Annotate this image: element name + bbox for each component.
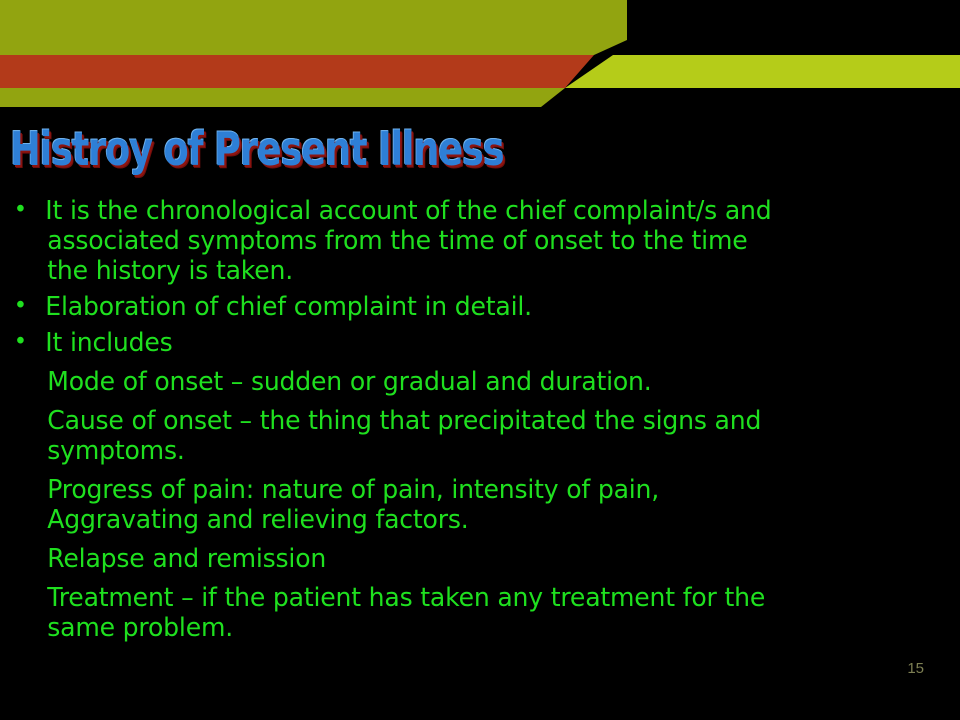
banner-olive-top <box>0 0 627 55</box>
bullet-item: It is the chronological account of the c… <box>0 196 887 226</box>
spacer <box>0 358 900 367</box>
slide-title-text: Histroy of Present Illness <box>10 122 506 176</box>
spacer <box>0 574 900 583</box>
banner-red-bar <box>0 55 594 88</box>
sub-item: Mode of onset – sudden or gradual and du… <box>0 367 887 397</box>
sub-item: Cause of onset – the thing that precipit… <box>0 406 887 436</box>
slide-title: Histroy of Present Illness <box>10 122 630 184</box>
bullet-item: It includes <box>0 328 887 358</box>
bullet-item: Elaboration of chief complaint in detail… <box>0 292 887 322</box>
spacer <box>0 535 900 544</box>
sub-item: Treatment – if the patient has taken any… <box>0 583 887 613</box>
slide-number: 15 <box>907 660 924 678</box>
slide-body: It is the chronological account of the c… <box>0 196 900 643</box>
sub-item-wrap-line: Aggravating and relieving factors. <box>0 505 887 535</box>
bullet-item-wrap-line: associated symptoms from the time of ons… <box>0 226 887 256</box>
sub-item-wrap-line: same problem. <box>0 613 887 643</box>
sub-item: Relapse and remission <box>0 544 887 574</box>
banner-olive-bottom <box>0 88 565 107</box>
bullet-item-wrap-line: the history is taken. <box>0 256 887 286</box>
banner-lime-bar <box>565 55 960 88</box>
slide-canvas: Histroy of Present Illness It is the chr… <box>0 0 960 720</box>
sub-item-wrap-line: symptoms. <box>0 436 887 466</box>
spacer <box>0 466 900 475</box>
spacer <box>0 397 900 406</box>
sub-item: Progress of pain: nature of pain, intens… <box>0 475 887 505</box>
header-banner-decoration <box>0 0 960 120</box>
